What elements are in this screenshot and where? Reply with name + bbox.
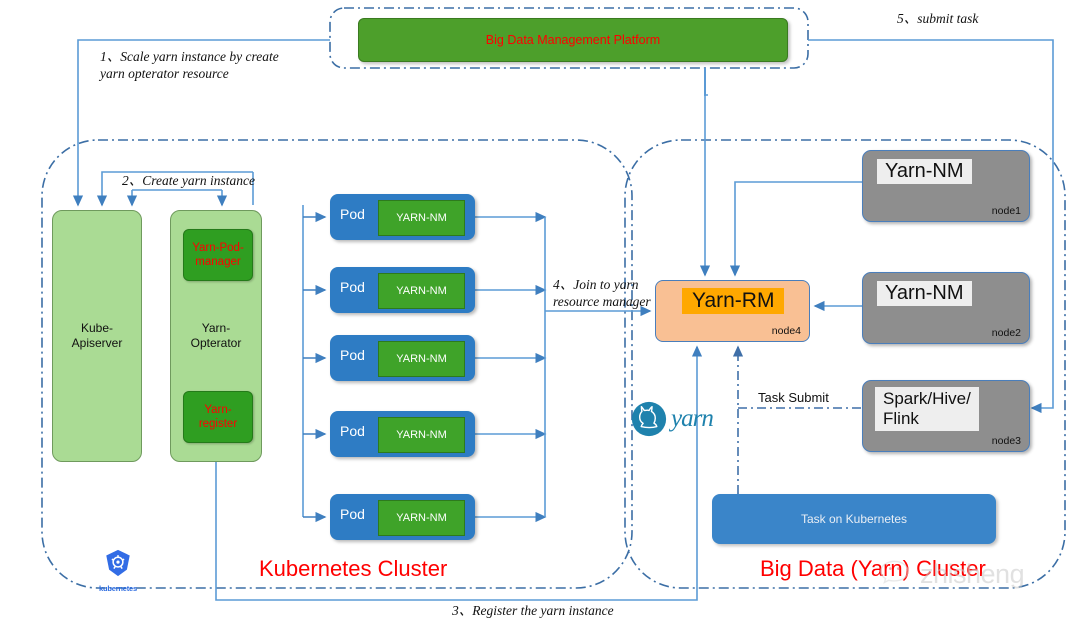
watermark: zhisheng bbox=[878, 556, 1024, 592]
big-data-management-platform[interactable]: Big Data Management Platform bbox=[358, 18, 788, 62]
yarn-nm-node2-box[interactable]: Yarn-NM node2 bbox=[862, 272, 1030, 344]
yarn-rm-node-tag: node4 bbox=[772, 325, 801, 337]
yarn-operator-label: Yarn- Opterator bbox=[171, 321, 261, 351]
pod-5[interactable]: Pod YARN-NM bbox=[330, 494, 475, 540]
spark-hive-flink-node3-box[interactable]: Spark/Hive/ Flink node3 bbox=[862, 380, 1030, 452]
kubernetes-logo-caption: kubernetes bbox=[96, 584, 140, 593]
arrow-node1-to-rm bbox=[735, 182, 862, 275]
yarn-logo: yarn bbox=[630, 400, 713, 438]
yarn-register-box[interactable]: Yarn- register bbox=[183, 391, 253, 443]
step-3-label: 3、Register the yarn instance bbox=[452, 602, 614, 619]
pod-4[interactable]: Pod YARN-NM bbox=[330, 411, 475, 457]
pod-label: Pod bbox=[340, 347, 365, 363]
pod-2[interactable]: Pod YARN-NM bbox=[330, 267, 475, 313]
yarn-register-label: Yarn- register bbox=[199, 403, 237, 431]
kube-apiserver-label: Kube- Apiserver bbox=[72, 321, 123, 351]
yarn-nm-container: YARN-NM bbox=[378, 341, 465, 377]
task-on-kubernetes-label: Task on Kubernetes bbox=[801, 512, 907, 526]
node2-tag: node2 bbox=[992, 327, 1021, 339]
yarn-pod-manager-box[interactable]: Yarn-Pod- manager bbox=[183, 229, 253, 281]
wechat-bubble-icon bbox=[878, 556, 918, 592]
node3-tag: node3 bbox=[992, 435, 1021, 447]
yarn-nm-container: YARN-NM bbox=[378, 273, 465, 309]
task-submit-label: Task Submit bbox=[758, 390, 829, 405]
node1-tag: node1 bbox=[992, 205, 1021, 217]
arrow-step5 bbox=[808, 40, 1053, 408]
yarn-nm-container: YARN-NM bbox=[378, 417, 465, 453]
step-2-label: 2、Create yarn instance bbox=[122, 172, 255, 189]
kubernetes-cluster-title: Kubernetes Cluster bbox=[259, 556, 447, 582]
step-4-label: 4、Join to yarn resource manager bbox=[553, 276, 651, 310]
yarn-rm-label: Yarn-RM bbox=[682, 288, 784, 314]
platform-label: Big Data Management Platform bbox=[486, 33, 660, 47]
diagram-canvas: Big Data Management Platform 1、Scale yar… bbox=[0, 0, 1080, 627]
yarn-nm-node2-label: Yarn-NM bbox=[877, 281, 972, 306]
kubernetes-icon bbox=[103, 548, 133, 578]
pod-label: Pod bbox=[340, 206, 365, 222]
kube-apiserver-box[interactable]: Kube- Apiserver bbox=[52, 210, 142, 462]
pod-label: Pod bbox=[340, 423, 365, 439]
spark-hive-flink-label: Spark/Hive/ Flink bbox=[875, 387, 979, 431]
pod-1[interactable]: Pod YARN-NM bbox=[330, 194, 475, 240]
yarn-nm-node1-label: Yarn-NM bbox=[877, 159, 972, 184]
yarn-rm-box[interactable]: Yarn-RM node4 bbox=[655, 280, 810, 342]
yarn-nm-container: YARN-NM bbox=[378, 200, 465, 236]
task-on-kubernetes-box[interactable]: Task on Kubernetes bbox=[712, 494, 996, 544]
yarn-logo-word: yarn bbox=[671, 405, 713, 433]
yarn-nm-container: YARN-NM bbox=[378, 500, 465, 536]
kubernetes-logo: kubernetes bbox=[96, 548, 140, 593]
yarn-operator-box[interactable]: Yarn-Pod- manager Yarn- Opterator Yarn- … bbox=[170, 210, 262, 462]
step-5-label: 5、submit task bbox=[897, 10, 978, 27]
pod-label: Pod bbox=[340, 279, 365, 295]
yarn-cat-icon bbox=[630, 400, 668, 438]
watermark-text: zhisheng bbox=[920, 559, 1024, 590]
step-1-label: 1、Scale yarn instance by create yarn opt… bbox=[100, 48, 279, 82]
pod-label: Pod bbox=[340, 506, 365, 522]
yarn-pod-manager-label: Yarn-Pod- manager bbox=[192, 241, 244, 269]
pod-3[interactable]: Pod YARN-NM bbox=[330, 335, 475, 381]
yarn-nm-node1-box[interactable]: Yarn-NM node1 bbox=[862, 150, 1030, 222]
